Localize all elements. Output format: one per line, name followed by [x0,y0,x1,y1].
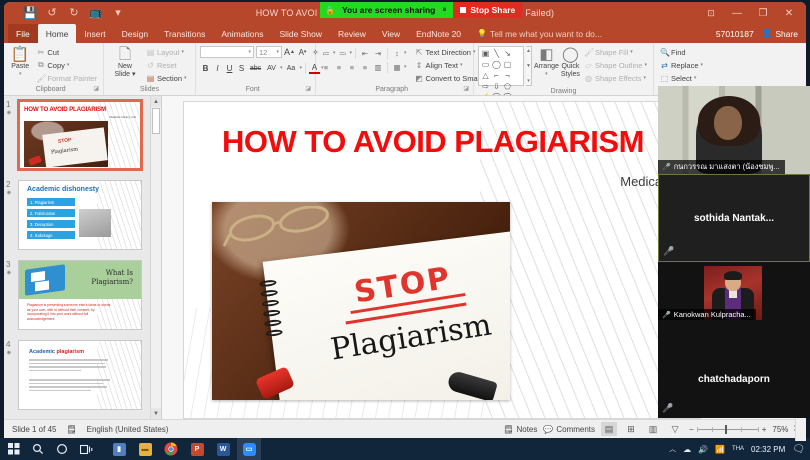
smartart-layout-button[interactable]: ▦ [391,61,403,73]
slide-animation-icon-1: ✷ [6,109,12,117]
layout-label: Layout [157,48,180,57]
underline-button[interactable]: U [224,62,235,74]
task-view-button[interactable] [75,438,97,460]
decrease-indent-button[interactable]: ⇤ [359,47,371,59]
thumbnails-scroll-down-icon[interactable]: ▼ [151,408,161,419]
thumbnails-scroll-thumb[interactable] [152,108,160,134]
screen-sharing-label: You are screen sharing [342,5,435,15]
section-label: Section [157,74,182,83]
new-slide-label1: New [118,63,132,71]
save-icon[interactable]: 💾 [20,4,40,22]
system-clock[interactable]: 02:32 PM [751,445,785,454]
shape-arrow-icon[interactable]: ↘ [502,48,513,59]
ribbon-group-clipboard: 📋 Paste ▾ ✂ Cut ⧉ Copy ▾ [4,43,104,95]
slide-number-3: 3 [6,260,10,269]
stop-share-button[interactable]: Stop Share [453,2,522,18]
shape-rectangle-icon[interactable]: ▭ [480,59,491,70]
align-text-icon: ⇕ [415,61,424,70]
close-button[interactable]: ✕ [776,2,802,24]
zoom-participant-tile-2[interactable]: sothida Nantak... 🎤 [658,174,810,262]
ribbon-tab-strip: File Home Insert Design Transitions Anim… [4,24,806,43]
slide-animation-icon-3: ✷ [6,269,12,277]
font-name-input[interactable]: ▾ [200,46,254,58]
thumb1-photo: STOP Plagiarism [24,121,108,167]
font-size-value: 12 [259,48,267,57]
taskbar-app-word[interactable]: W [211,438,235,460]
participant-1-name-bar: 🎤 กนกวรรณ มาแสงตา (น้องชมพู... [658,160,785,174]
tab-home[interactable]: Home [38,24,77,43]
taskbar-app-file-explorer[interactable]: ▬ [133,438,157,460]
align-right-button[interactable]: ≡ [346,61,358,73]
notes-button[interactable]: 🗒 Notes [503,425,537,434]
ribbon-group-drawing: ▣ ╲ ↘ ▭ ◯ ▢ △ ⌐ ¬ ⇨ ⇩ ⬠ ⚡ ⌒ ⌒ [474,43,654,95]
italic-button[interactable]: I [212,62,223,74]
tab-slide-show[interactable]: Slide Show [271,24,330,43]
current-slide[interactable]: HOW TO AVOID PLAGIARISM Medical Lib [184,102,700,418]
paste-button[interactable]: 📋 Paste ▾ [8,45,32,77]
thumbnails-scroll-up-icon[interactable]: ▲ [151,96,161,107]
slides-group-text: Slides [140,86,159,93]
group-label-paragraph: Paragraph ◪ [320,84,469,95]
tab-transitions[interactable]: Transitions [156,24,213,43]
case-caret-icon: ▾ [300,65,303,71]
shapes-more-icon[interactable]: ▾ [527,78,530,84]
tab-review[interactable]: Review [330,24,374,43]
thumb4-title-b: plagiarism [57,349,85,355]
shape-fill-button[interactable]: 🖌 Shape Fill ▾ [582,46,649,58]
slide-photo-stop-plagiarism[interactable]: STOP Plagiarism [212,202,510,400]
layout-button[interactable]: ▤ Layout ▾ [144,46,189,58]
ribbon-display-options-icon[interactable]: ⊡ [698,2,724,24]
replace-button[interactable]: ⇄ Replace ▾ [658,59,705,71]
section-button[interactable]: ▤ Section ▾ [144,72,189,84]
windows-logo-icon [8,443,20,455]
tell-me-placeholder: Tell me what you want to do... [490,29,602,39]
view-reading-button[interactable]: ▥ [645,422,661,436]
format-painter-button[interactable]: 🖌 Format Painter [34,72,99,84]
reset-label: Reset [157,61,177,70]
taskbar-search-button[interactable] [27,438,49,460]
shapes-gallery-scrollbar[interactable]: ▲ ▼ ▾ [526,46,532,86]
new-slide-icon: 🗋 [119,46,131,63]
find-label: Find [671,48,686,57]
shape-effects-icon: ◍ [584,74,593,83]
show-hidden-icons-icon[interactable]: ︿ [669,444,676,454]
slide-title-text[interactable]: HOW TO AVOID PLAGIARISM [222,124,644,160]
action-center-icon[interactable]: 🗨 [792,444,805,455]
shape-effects-button[interactable]: ◍ Shape Effects ▾ [582,72,649,84]
numbering-button[interactable]: ≕ [337,47,349,59]
slide-thumbnail-frame-2: Academic dishonesty 1. Plagiarism 2. Fab… [18,180,142,250]
slide-thumbnail-1[interactable]: 1 ✷ HOW TO AVOID PLAGIARISM Medical Libr… [18,100,151,170]
arrange-caret-icon: ▾ [545,71,548,77]
replace-caret-icon: ▾ [701,62,704,68]
thumb4-title-a: Academic [29,349,57,355]
task-view-icon [80,444,93,455]
new-slide-button[interactable]: 🗋 New Slide ▾ [108,45,142,79]
tell-me-search[interactable]: 💡 Tell me what you want to do... [469,24,602,43]
increase-indent-button[interactable]: ⇥ [372,47,384,59]
select-label: Select [671,74,692,83]
shape-effects-label: Shape Effects [595,74,642,83]
muted-mic-icon: 🎤 [663,246,674,257]
tab-design[interactable]: Design [114,24,156,43]
shape-fill-label: Shape Fill [595,48,628,57]
thumb3-title: What Is Plagiarism? [91,269,133,287]
thumb2-bar-3: 3. Deception [27,220,75,228]
reset-icon: ↺ [146,61,155,70]
notes-label: Notes [516,425,537,434]
thumb2-title: Academic dishonesty [27,186,99,193]
font-size-input[interactable]: 12 ▾ [256,46,282,58]
keyboard-language-icon[interactable]: THA [732,446,744,452]
slide-number-4: 4 [6,340,10,349]
comments-button[interactable]: 💬 Comments [543,425,595,434]
arrange-icon: ◧ [539,46,553,63]
thumb1-stop-text: STOP [57,137,71,145]
format-painter-label: Format Painter [47,74,97,83]
copy-caret-icon: ▾ [67,62,70,68]
search-icon [32,443,44,455]
group-label-slides: Slides [108,84,191,95]
smartart-layout-caret-icon: ▾ [404,64,407,70]
search-icon: 🔍 [660,48,669,57]
font-dialog-launcher-icon[interactable]: ◪ [305,84,311,95]
thumb4-body-lines [29,359,115,393]
slide-number-1: 1 [6,100,10,109]
align-center-button[interactable]: ≡ [333,61,345,73]
character-spacing-button[interactable]: AV [264,62,279,74]
slide-thumbnail-frame-1: HOW TO AVOID PLAGIARISM Medical Library … [18,100,142,170]
zoom-level-label[interactable]: 75% [772,425,788,434]
windows-taskbar: ▮ ▬ P W ▭ [0,438,810,460]
thumb3-title-line1: What Is [106,269,133,277]
minimize-button[interactable]: — [724,2,750,24]
select-caret-icon: ▾ [694,75,697,81]
lock-icon: 🔒 [325,6,335,15]
slide-thumbnail-2[interactable]: 2 ✷ Academic dishonesty 1. Plagiarism 2.… [18,180,151,250]
change-case-button[interactable]: Aa [284,62,299,74]
taskbar-app-zoom[interactable]: ▭ [237,438,261,460]
shape-fill-caret-icon: ▾ [630,49,633,55]
zoom-participant-tile-4[interactable]: chatchadaporn 🎤 [658,340,810,418]
clipboard-group-text: Clipboard [36,86,66,93]
tab-file[interactable]: File [8,24,38,43]
slide-thumbnail-frame-3: What Is Plagiarism? Plagiarism is presen… [18,260,142,330]
thumb3-body-text: Plagiarism is presenting someone else's … [27,303,111,321]
slide-animation-icon-4: ✷ [6,349,12,357]
spacing-caret-icon: ▾ [280,65,283,71]
eyeglasses-icon [222,206,340,250]
onedrive-icon[interactable]: ☁ [683,445,691,454]
thumb1-title: HOW TO AVOID PLAGIARISM [24,106,136,113]
zoom-screen-share-banner: 🔒 You are screen sharing ⏸ Stop Share [320,2,522,18]
thumb2-bar-1: 1. Plagiarism [27,198,75,206]
tab-animations[interactable]: Animations [213,24,271,43]
text-direction-label: Text Direction [426,48,471,57]
slide-thumbnails-pane[interactable]: 1 ✷ HOW TO AVOID PLAGIARISM Medical Libr… [4,96,162,419]
participant-3-name: Kanokwan Kulpracha... [674,310,751,319]
muted-mic-icon: 🎤 [662,163,671,171]
participant-3-name-bar: 🎤 Kanokwan Kulpracha... [658,309,756,320]
cortana-icon [56,443,68,455]
participant-2-name: sothida Nantak... [659,175,809,261]
share-button-label: Share [775,29,798,39]
cut-label: Cut [47,48,59,57]
powerpoint-icon: P [191,443,204,456]
replace-label: Replace [671,61,699,70]
ribbon-group-paragraph: ≔ ▾ ≕ ▾ ⇤ ⇥ ↕ ▾ ≡ [316,43,474,95]
tab-view[interactable]: View [374,24,408,43]
taskbar-app-store[interactable]: ▮ [107,438,131,460]
start-presentation-icon[interactable]: 📺 [86,4,106,22]
shape-effects-caret-icon: ▾ [644,75,647,81]
store-icon: ▮ [113,443,126,456]
zoom-slider-track[interactable] [697,429,759,430]
zoom-video-panel[interactable]: 🎤 กนกวรรณ มาแสงตา (น้องชมพู... sothida N… [658,86,810,418]
text-direction-icon: ⇱ [415,48,424,57]
view-slide-sorter-button[interactable]: ⊞ [623,422,639,436]
zoom-slider[interactable]: − + [689,425,766,434]
muted-mic-icon: 🎤 [662,403,673,414]
find-button[interactable]: 🔍 Find [658,46,705,58]
participant-1-name: กนกวรรณ มาแสงตา (น้องชมพู... [674,161,780,173]
decrease-font-size-button[interactable]: A▾ [297,46,308,58]
stop-square-icon [460,7,466,13]
shapes-scroll-down-icon[interactable]: ▼ [526,63,531,69]
window-controls: ⊡ — ❐ ✕ [698,2,802,24]
strikethrough-button[interactable]: abc [248,62,263,74]
zoom-in-button[interactable]: + [762,425,767,434]
replace-icon: ⇄ [660,61,669,70]
arrange-label: Arrange [534,63,559,71]
share-person-icon: 👤 [762,28,773,39]
quick-access-toolbar: 💾 ↺ ↻ 📺 ▾ [4,4,128,22]
paintbrush-icon: 🖌 [36,74,45,83]
layout-caret-icon: ▾ [182,49,185,55]
shape-outline-button[interactable]: ▱ Shape Outline ▾ [582,59,649,71]
comments-label: Comments [556,425,595,434]
cut-button[interactable]: ✂ Cut [34,46,99,58]
thumb4-title: Academic plagiarism [29,349,84,355]
increase-font-size-button[interactable]: A▲ [284,46,295,58]
clipboard-dialog-launcher-icon[interactable]: ◪ [93,84,99,95]
shape-elbow-connector-icon[interactable]: ⌐ [491,70,502,81]
section-caret-icon: ▾ [184,75,187,81]
slide-thumbnail-3[interactable]: 3 ✷ What Is Plagiarism? [18,260,151,330]
section-icon: ▤ [146,74,155,83]
group-label-clipboard: Clipboard ◪ [8,84,99,95]
tab-insert[interactable]: Insert [76,24,113,43]
shape-oval-icon[interactable]: ◯ [491,59,502,70]
align-left-button[interactable]: ≡ [320,61,332,73]
font-size-caret-icon: ▾ [276,49,279,55]
start-button[interactable] [3,438,25,460]
spell-check-icon[interactable]: 🗒 [66,425,76,434]
zoom-participant-tile-1[interactable]: 🎤 กนกวรรณ มาแสงตา (น้องชมพู... [658,86,810,174]
slide-number-2: 2 [6,180,10,189]
zoom-icon: ▭ [243,443,256,456]
numbering-caret-icon: ▾ [350,50,353,56]
copy-label: Copy [47,61,65,70]
customize-qat-icon[interactable]: ▾ [108,4,128,22]
shapes-scroll-up-icon[interactable]: ▲ [526,48,531,54]
zoom-slider-handle[interactable] [725,425,727,434]
taskbar-app-chrome[interactable] [159,438,183,460]
text-shadow-button[interactable]: S [236,62,247,74]
pause-share-icon[interactable]: ⏸ [442,5,446,15]
shape-rounded-rect-icon[interactable]: ▢ [502,59,513,70]
reset-button[interactable]: ↺ Reset [144,59,189,71]
thumb2-photo [79,209,111,237]
comments-icon: 💬 [543,425,553,434]
participant-1-face [714,106,742,140]
shape-outline-icon: ▱ [584,61,593,70]
align-text-caret-icon: ▾ [460,62,463,68]
taskbar-app-powerpoint[interactable]: P [185,438,209,460]
shape-line-icon[interactable]: ╲ [491,48,502,59]
paste-caret-icon: ▾ [19,71,22,77]
screen-sharing-status: 🔒 You are screen sharing ⏸ [320,2,453,18]
line-spacing-button[interactable]: ↕ [391,47,403,59]
arrange-button[interactable]: ◧ Arrange ▾ [534,45,559,77]
slide-animation-icon-2: ✷ [6,189,12,197]
scissors-icon: ✂ [36,48,45,57]
notes-icon: 🗒 [503,425,513,434]
paste-label: Paste [11,63,29,71]
shapes-gallery[interactable]: ▣ ╲ ↘ ▭ ◯ ▢ △ ⌐ ¬ ⇨ ⇩ ⬠ ⚡ ⌒ ⌒ [478,46,524,86]
slide-indicator: Slide 1 of 45 [12,425,56,434]
tab-endnote[interactable]: EndNote 20 [408,24,469,43]
align-text-label: Align Text [426,61,458,70]
thumb3-title-line2: Plagiarism? [91,278,133,286]
wifi-icon[interactable]: 📶 [715,445,725,454]
slide-thumbnail-4[interactable]: 4 ✷ Academic plagiarism [18,340,151,410]
cortana-button[interactable] [51,438,73,460]
shape-triangle-icon[interactable]: △ [480,70,491,81]
view-slideshow-button[interactable]: ▽ [667,422,683,436]
lightbulb-icon: 💡 [477,29,487,38]
smartart-icon: ◩ [415,74,424,83]
thumb2-bar-2: 2. Fabrication [27,209,75,217]
undo-icon[interactable]: ↺ [42,4,62,22]
zoom-participant-tile-3[interactable]: 🎤 Kanokwan Kulpracha... [658,262,810,340]
font-group-text: Font [246,86,260,93]
quick-styles-button[interactable]: ◯ Quick Styles [561,45,580,79]
thumb2-bar-4: 4. Sabotage [27,231,75,239]
muted-mic-icon: 🎤 [662,311,671,319]
select-icon: ⬚ [660,74,669,83]
quick-styles-label2: Styles [561,71,580,79]
ribbon-group-slides: 🗋 New Slide ▾ ▤ Layout ▾ ↺ Reset [104,43,196,95]
window-title-suffix: n Failed) [517,8,554,18]
system-tray: ︿ ☁ 🔊 📶 THA 02:32 PM 🗨 [669,444,810,455]
account-user-id[interactable]: 57010187 [716,29,754,39]
select-button[interactable]: ⬚ Select ▾ [658,72,705,84]
columns-button[interactable]: ▥ [372,61,384,73]
view-normal-button[interactable]: ▤ [601,422,617,436]
shape-outline-label: Shape Outline [595,61,643,70]
quick-styles-label1: Quick [561,63,579,71]
quick-styles-icon: ◯ [562,46,579,63]
drawing-group-text: Drawing [551,88,577,95]
status-bar: Slide 1 of 45 🗒 English (United States) … [4,419,806,438]
paragraph-dialog-launcher-icon[interactable]: ◪ [463,84,469,95]
paragraph-group-text: Paragraph [375,86,408,93]
shape-textbox-icon[interactable]: ▣ [480,48,491,59]
shape-elbow-arrow-icon[interactable]: ¬ [502,70,513,81]
restore-button[interactable]: ❐ [750,2,776,24]
thumb1-subtitle: Medical Library Unit [109,115,136,119]
zoom-out-button[interactable]: − [689,425,694,434]
thumbnails-scrollbar[interactable]: ▲ ▼ [150,96,161,419]
bullets-caret-icon: ▾ [333,50,336,56]
word-icon: W [217,443,230,456]
participant-4-name: chatchadaporn [658,340,810,418]
file-explorer-icon: ▬ [139,443,152,456]
shape-fill-icon: 🖌 [584,48,593,57]
bold-button[interactable]: B [200,62,211,74]
new-slide-label2: Slide ▾ [114,71,135,79]
window-title-text: HOW TO AVOI [256,8,318,18]
share-button[interactable]: 👤 Share [762,28,802,39]
layout-icon: ▤ [146,48,155,57]
screen: 💾 ↺ ↻ 📺 ▾ HOW TO AVOI n Failed) ⊡ — ❐ ✕ … [0,0,810,460]
bullets-button[interactable]: ≔ [320,47,332,59]
slide-thumbnail-frame-4: Academic plagiarism [18,340,142,410]
copy-button[interactable]: ⧉ Copy ▾ [34,59,99,71]
copy-icon: ⧉ [36,60,45,70]
font-name-caret-icon: ▾ [248,49,251,55]
slide-thumbnail-list: 1 ✷ HOW TO AVOID PLAGIARISM Medical Libr… [4,96,161,419]
volume-icon[interactable]: 🔊 [698,445,708,454]
group-label-font: Font ◪ [200,84,311,95]
justify-button[interactable]: ≡ [359,61,371,73]
clipboard-icon: 📋 [11,46,30,63]
language-indicator[interactable]: English (United States) [87,425,169,434]
ribbon-group-font: ▾ 12 ▾ A▲ A▾ ✧ B I U S [196,43,316,95]
redo-icon[interactable]: ↻ [64,4,84,22]
ribbon-right-area: 57010187 👤 Share [716,24,802,43]
line-spacing-caret-icon: ▾ [404,50,407,56]
stop-share-label: Stop Share [470,5,515,15]
shape-outline-caret-icon: ▾ [644,62,647,68]
chrome-icon [164,442,178,456]
